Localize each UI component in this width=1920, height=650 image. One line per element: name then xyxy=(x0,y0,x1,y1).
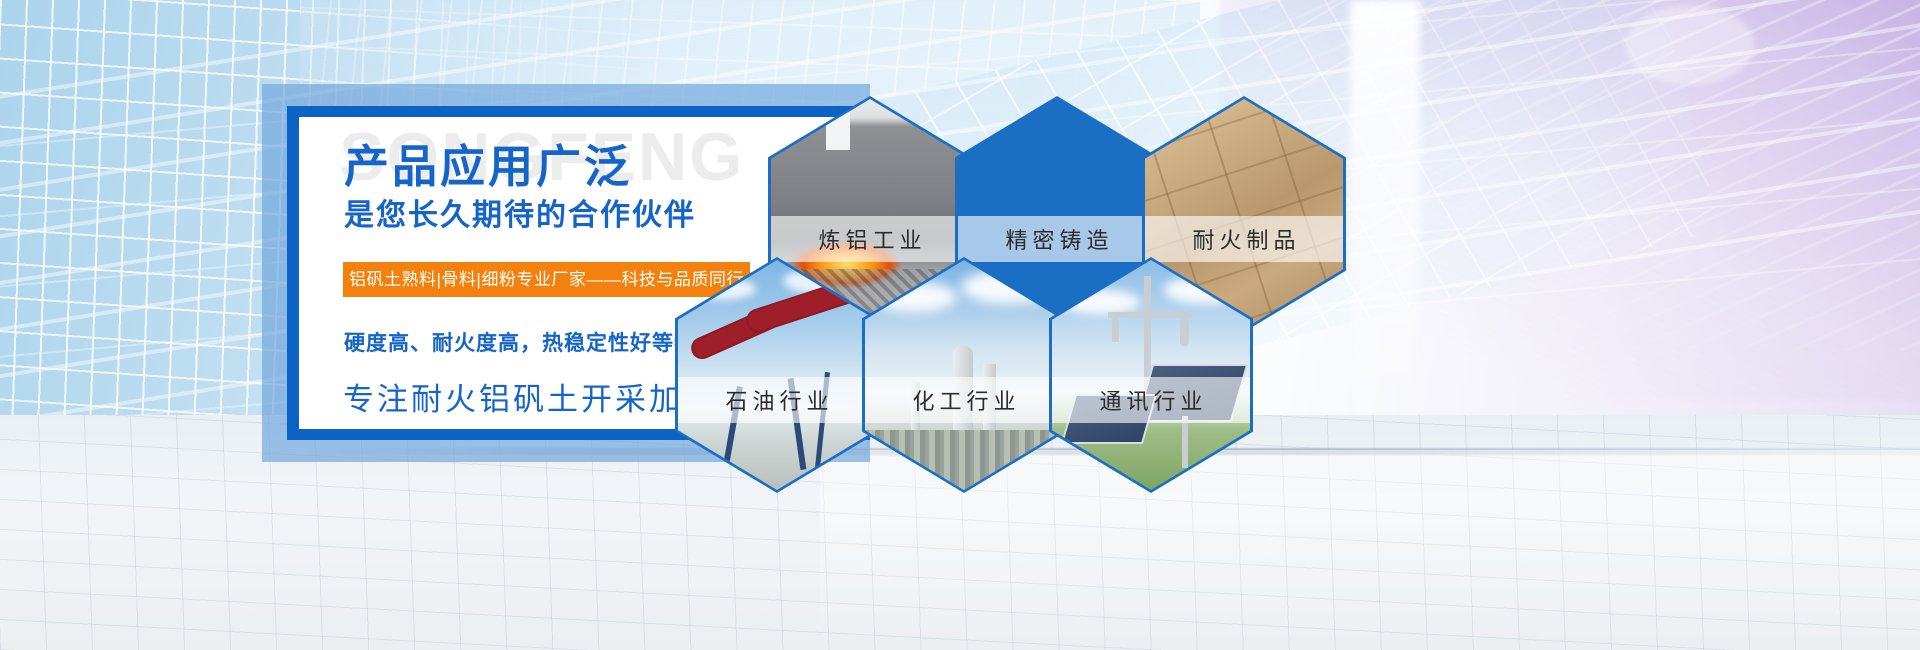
subheadline: 是您长久期待的合作伙伴 xyxy=(344,201,696,231)
hex-face: 通讯行业 xyxy=(1052,260,1250,490)
telecom-solar-photo xyxy=(1052,260,1250,490)
oil-pumpjack-photo xyxy=(678,260,876,490)
promotional-banner: SONGFENG 产品应用广泛 是您长久期待的合作伙伴 铝矾土熟料|骨料|细粉专… xyxy=(0,0,1920,650)
focus-text: 专注耐火铝矾土开采加工 xyxy=(343,384,717,415)
hex-label: 炼铝工业 xyxy=(771,216,969,262)
hex-label: 石油行业 xyxy=(678,377,876,423)
hex-label: 通讯行业 xyxy=(1052,377,1250,423)
chemical-plant-photo xyxy=(865,260,1063,490)
hex-label: 耐火制品 xyxy=(1145,216,1343,262)
hex-face: 化工行业 xyxy=(865,260,1063,490)
feature-text: 硬度高、耐火度高，热稳定性好等特性 xyxy=(344,333,718,354)
light-column xyxy=(1350,0,1420,470)
hex-label: 化工行业 xyxy=(865,377,1063,423)
application-hex-chemical[interactable]: 化工行业 xyxy=(862,257,1066,493)
hex-face: 石油行业 xyxy=(678,260,876,490)
application-hex-telecom[interactable]: 通讯行业 xyxy=(1049,257,1253,493)
application-hex-oil[interactable]: 石油行业 xyxy=(675,257,879,493)
hex-label: 精密铸造 xyxy=(958,216,1156,262)
headline: 产品应用广泛 xyxy=(344,144,632,189)
